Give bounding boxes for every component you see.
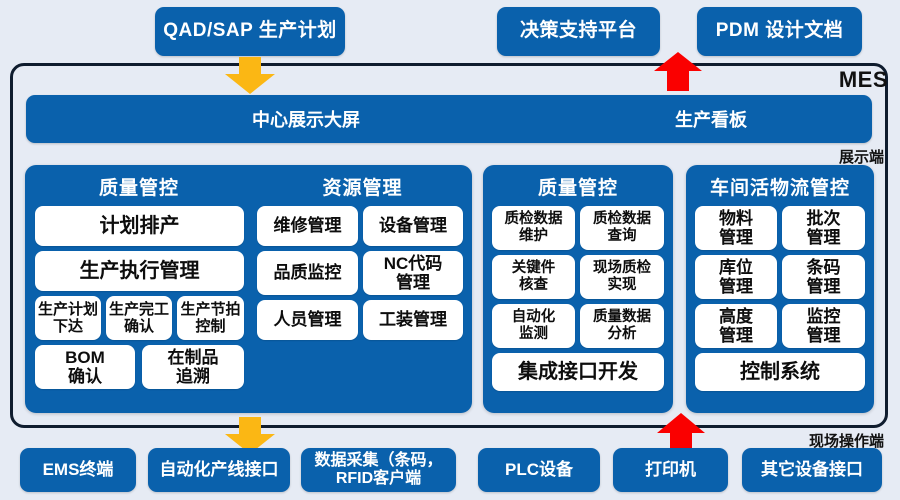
external-system-decision-platform[interactable]: 决策支持平台 [497, 7, 660, 56]
mes-frame-label: MES [839, 67, 888, 93]
module-automation-monitoring[interactable]: 自动化 监测 [492, 304, 575, 348]
module-maintenance-management[interactable]: 维修管理 [257, 206, 358, 246]
display-item-production-board[interactable]: 生产看板 [546, 95, 876, 143]
module-production-completion-confirm[interactable]: 生产完工 确认 [106, 296, 172, 340]
terminal-plc-device[interactable]: PLC设备 [478, 448, 600, 492]
terminal-automation-line-interface[interactable]: 自动化产线接口 [148, 448, 290, 492]
module-inspection-data-query[interactable]: 质检数据 查询 [580, 206, 664, 250]
module-inspection-data-maintenance[interactable]: 质检数据 维护 [492, 206, 575, 250]
module-batch-management[interactable]: 批次 管理 [782, 206, 865, 250]
module-tooling-management[interactable]: 工装管理 [363, 300, 463, 340]
tier-label-display: 展示端 [839, 146, 884, 167]
module-personnel-management[interactable]: 人员管理 [257, 300, 358, 340]
module-planning-scheduling[interactable]: 计划排产 [35, 206, 244, 246]
module-location-management[interactable]: 库位 管理 [695, 255, 777, 299]
panel-title-quality-control: 质量管控 [483, 173, 673, 199]
module-control-system[interactable]: 控制系统 [695, 353, 865, 391]
module-wip-traceability[interactable]: 在制品 追溯 [142, 345, 244, 389]
module-nc-code-management[interactable]: NC代码 管理 [363, 251, 463, 295]
external-system-qad-sap[interactable]: QAD/SAP 生产计划 [155, 7, 345, 56]
panel-workshop-logistics: 车间活物流管控 物料 管理 批次 管理 库位 管理 条码 管理 高度 管理 监控… [686, 165, 874, 413]
module-production-plan-release[interactable]: 生产计划 下达 [35, 296, 101, 340]
panel-title-resource-management: 资源管理 [253, 173, 472, 199]
terminal-data-acquisition[interactable]: 数据采集（条码， RFID客户端 [301, 448, 456, 492]
arrow-down-yellow-top [222, 57, 278, 95]
module-height-management[interactable]: 高度 管理 [695, 304, 777, 348]
terminal-ems[interactable]: EMS终端 [20, 448, 136, 492]
module-material-management[interactable]: 物料 管理 [695, 206, 777, 250]
terminal-other-device-interface[interactable]: 其它设备接口 [742, 448, 882, 492]
module-key-part-verification[interactable]: 关键件 核查 [492, 255, 575, 299]
module-onsite-inspection[interactable]: 现场质检 实现 [580, 255, 664, 299]
display-layer-bar: 中心展示大屏 生产看板 [26, 95, 872, 143]
module-integration-interface-dev[interactable]: 集成接口开发 [492, 353, 664, 391]
module-bom-confirm[interactable]: BOM 确认 [35, 345, 135, 389]
terminal-printer[interactable]: 打印机 [613, 448, 728, 492]
panel-quality-control: 质量管控 质检数据 维护 质检数据 查询 关键件 核查 现场质检 实现 自动化 … [483, 165, 673, 413]
external-system-pdm[interactable]: PDM 设计文档 [697, 7, 862, 56]
diagram-canvas: QAD/SAP 生产计划 决策支持平台 PDM 设计文档 MES 中心展示大屏 … [0, 0, 900, 500]
module-production-execution[interactable]: 生产执行管理 [35, 251, 244, 291]
module-production-takt-control[interactable]: 生产节拍 控制 [177, 296, 244, 340]
module-equipment-management[interactable]: 设备管理 [363, 206, 463, 246]
panel-production-resource: 质量管控 资源管理 计划排产 生产执行管理 生产计划 下达 生产完工 确认 生产… [25, 165, 472, 413]
panel-title-quality-control-left: 质量管控 [25, 173, 253, 199]
module-quality-data-analysis[interactable]: 质量数据 分析 [580, 304, 664, 348]
module-monitoring-management[interactable]: 监控 管理 [782, 304, 865, 348]
module-barcode-management[interactable]: 条码 管理 [782, 255, 865, 299]
display-item-central-screen[interactable]: 中心展示大屏 [26, 95, 586, 143]
module-quality-monitoring[interactable]: 品质监控 [257, 251, 358, 295]
panel-title-workshop-logistics: 车间活物流管控 [686, 173, 874, 199]
arrow-up-red-top [652, 52, 704, 92]
